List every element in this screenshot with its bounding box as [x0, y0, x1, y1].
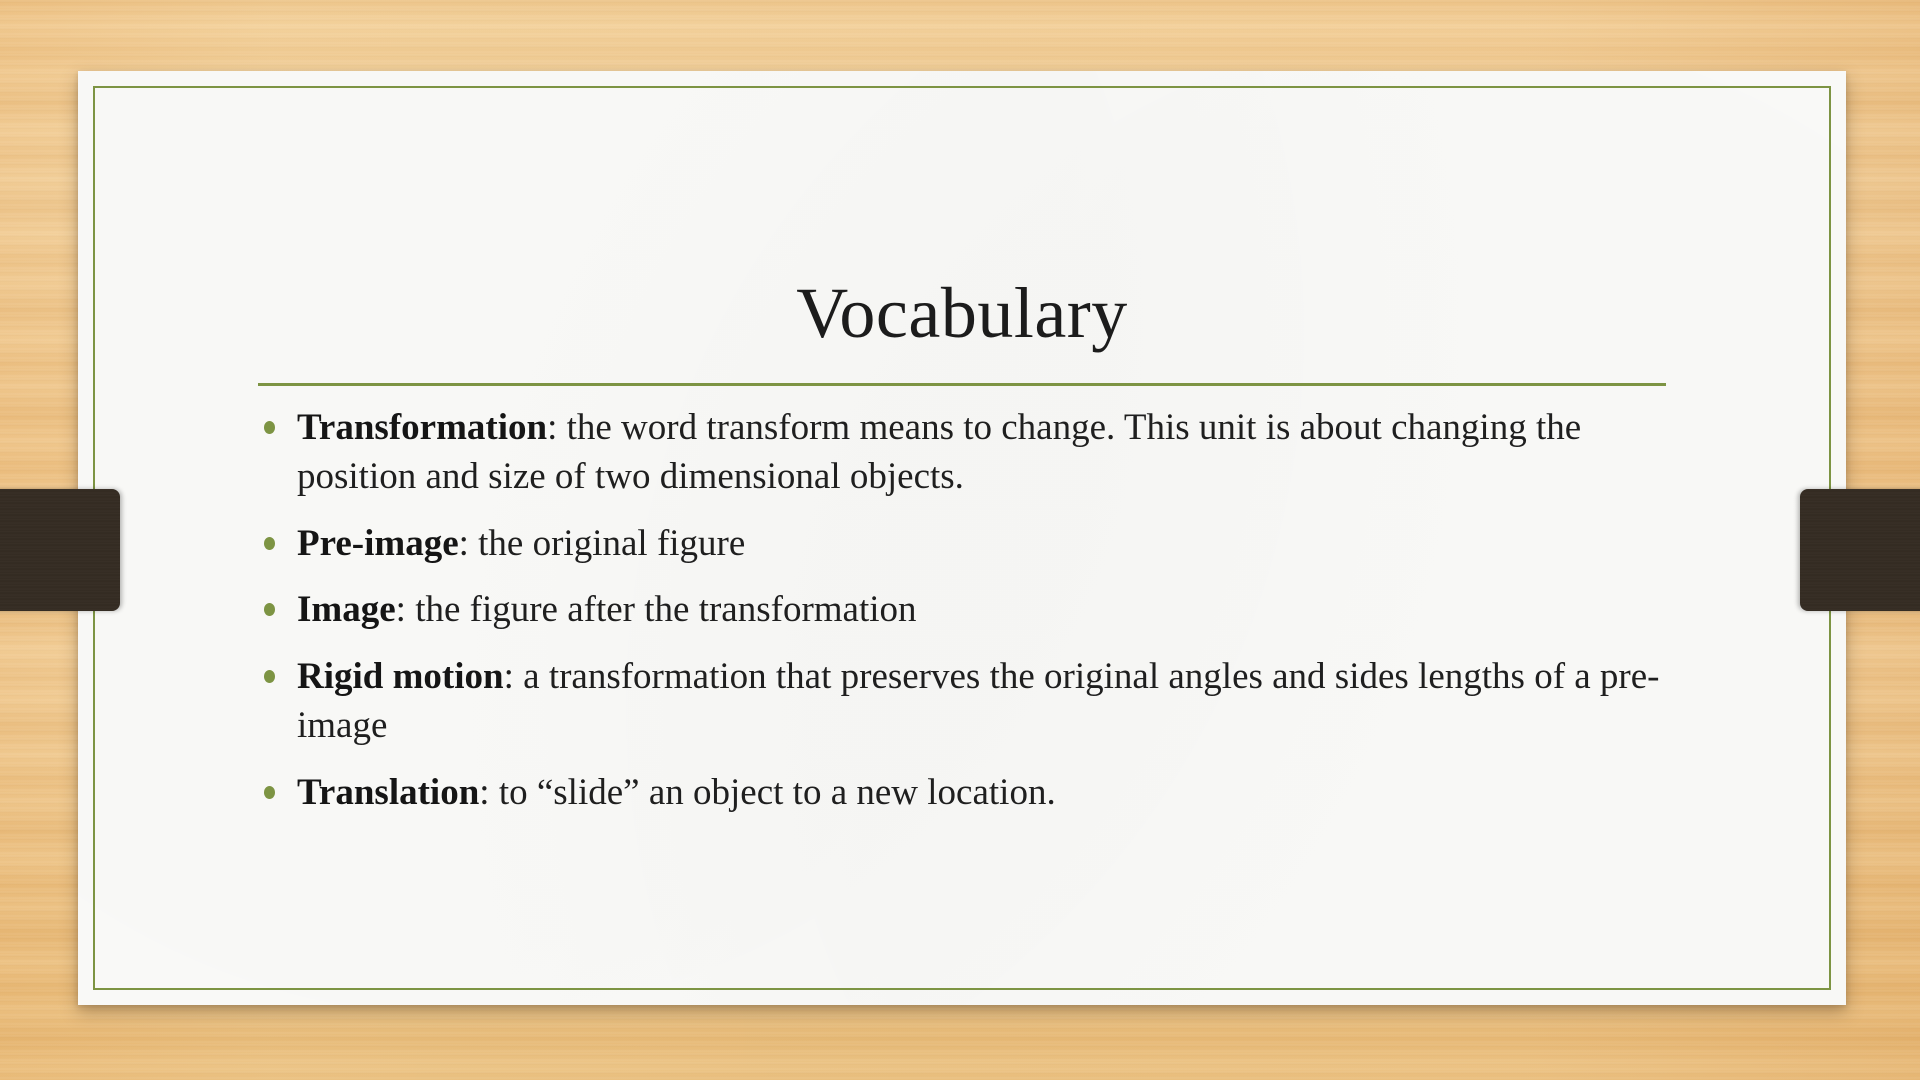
vocab-term: Transformation [297, 407, 547, 448]
list-item: Transformation: the word transform means… [261, 404, 1694, 502]
vocab-term: Rigid motion [297, 656, 504, 697]
slide-content: Vocabulary Transformation: the word tran… [78, 71, 1846, 1005]
vocab-definition: to “slide” an object to a new location. [499, 772, 1056, 813]
vocab-term: Pre-image [297, 523, 459, 564]
bullet-dot-icon [264, 603, 275, 616]
page-title: Vocabulary [78, 277, 1846, 349]
bullet-dot-icon [264, 670, 275, 683]
vocab-definition: the figure after the transformation [415, 589, 916, 630]
vocab-separator: : [547, 407, 567, 448]
vocab-separator: : [479, 772, 499, 813]
vocabulary-bullet-list: Transformation: the word transform means… [261, 404, 1694, 818]
list-item: Image: the figure after the transformati… [261, 586, 1694, 635]
vocab-separator: : [396, 589, 416, 630]
bullet-dot-icon [264, 537, 275, 550]
title-divider-rule [258, 383, 1666, 386]
bullet-dot-icon [264, 421, 275, 434]
left-binder-tab [0, 489, 120, 611]
presentation-slide[interactable]: Vocabulary Transformation: the word tran… [78, 71, 1846, 1005]
bullet-dot-icon [264, 786, 275, 799]
list-item: Pre-image: the original figure [261, 520, 1694, 569]
vocab-separator: : [459, 523, 479, 564]
slide-stage: Vocabulary Transformation: the word tran… [0, 0, 1920, 1080]
list-item: Rigid motion: a transformation that pres… [261, 653, 1694, 751]
vocab-term: Image [297, 589, 396, 630]
vocab-definition: the original figure [478, 523, 745, 564]
list-item: Translation: to “slide” an object to a n… [261, 769, 1694, 818]
right-binder-tab [1800, 489, 1920, 611]
vocab-term: Translation [297, 772, 479, 813]
vocab-separator: : [504, 656, 524, 697]
